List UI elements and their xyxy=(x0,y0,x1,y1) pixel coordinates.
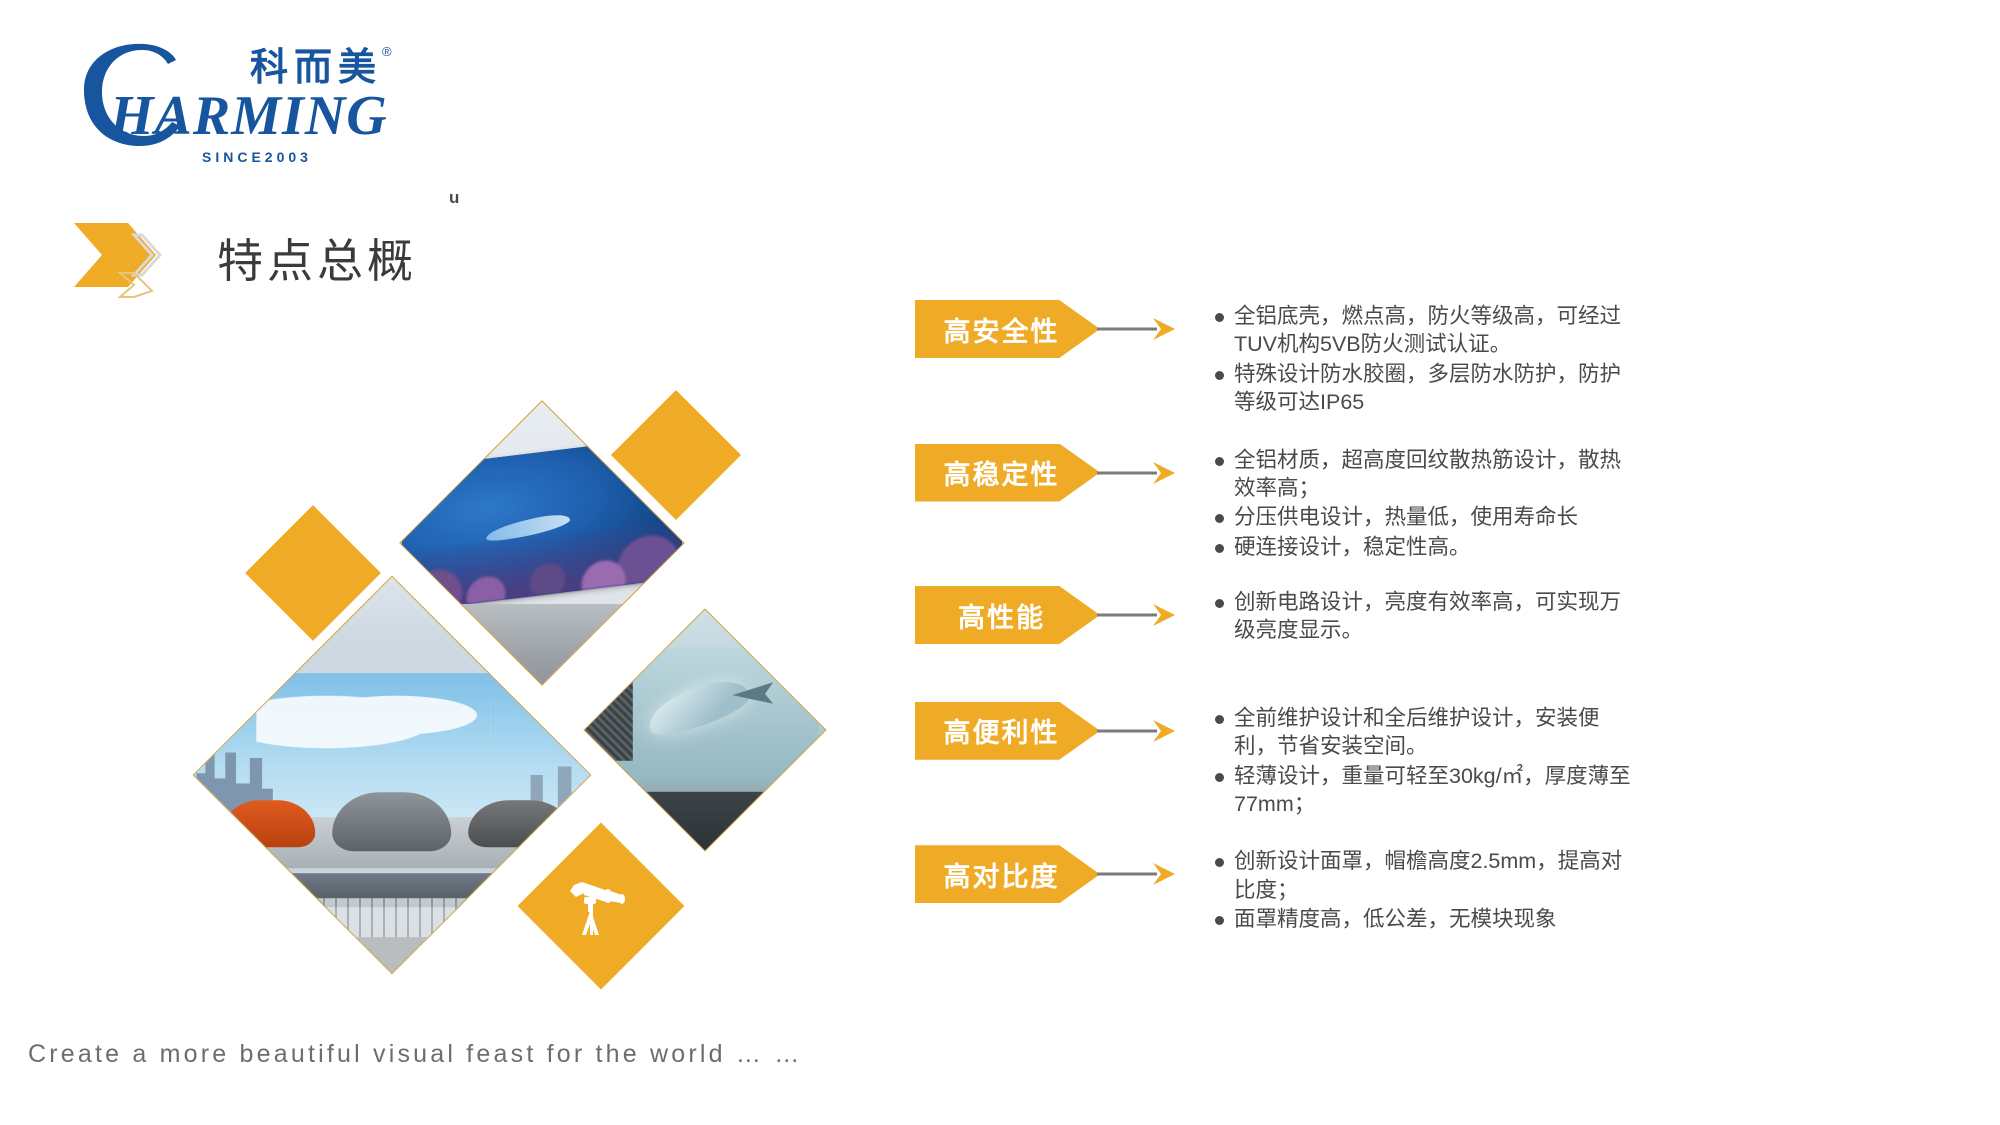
stray-glyph: u xyxy=(449,188,459,208)
bullet-dot-icon xyxy=(1215,313,1224,322)
feature-row: 高安全性 全铝底壳，燃点高，防火等级高，可经过TUV机构5VB防火测试认证。 特… xyxy=(915,300,1935,418)
feature-tag-stability[interactable]: 高稳定性 xyxy=(915,444,1100,502)
feature-row: 高稳定性 全铝材质，超高度回纹散热筋设计，散热效率高； 分压供电设计，热量低，使… xyxy=(915,444,1935,563)
page-title: 特点总概 xyxy=(217,225,417,291)
diamond-telescope-icon xyxy=(518,823,685,990)
feature-tag-convenience[interactable]: 高便利性 xyxy=(915,702,1100,760)
feature-tag-wrap: 高稳定性 xyxy=(915,444,1215,502)
svg-text:科而美: 科而美 xyxy=(250,45,382,89)
list-item: 创新电路设计，亮度有效率高，可实现万级亮度显示。 xyxy=(1215,588,1935,645)
list-item: 轻薄设计，重量可轻至30kg/㎡，厚度薄至77mm； xyxy=(1215,762,1935,819)
image-collage xyxy=(190,395,830,990)
list-item: 硬连接设计，稳定性高。 xyxy=(1215,533,1935,561)
svg-text:HARMING: HARMING xyxy=(109,85,388,147)
arrow-icon xyxy=(1097,461,1185,485)
feature-bullets: 创新电路设计，亮度有效率高，可实现万级亮度显示。 xyxy=(1215,586,1935,646)
list-item: 特殊设计防水胶圈，多层防水防护，防护等级可达IP65 xyxy=(1215,360,1935,417)
svg-text:®: ® xyxy=(382,44,392,59)
list-item: 分压供电设计，热量低，使用寿命长 xyxy=(1215,503,1935,531)
feature-tag-wrap: 高对比度 xyxy=(915,845,1215,903)
bullet-dot-icon xyxy=(1215,858,1224,867)
feature-list: 高安全性 全铝底壳，燃点高，防火等级高，可经过TUV机构5VB防火测试认证。 特… xyxy=(915,300,1935,934)
feature-tag-performance[interactable]: 高性能 xyxy=(915,586,1100,644)
list-item: 全前维护设计和全后维护设计，安装便利，节省安装空间。 xyxy=(1215,704,1935,761)
feature-bullets: 全前维护设计和全后维护设计，安装便利，节省安装空间。 轻薄设计，重量可轻至30k… xyxy=(1215,702,1935,820)
feature-row: 高便利性 全前维护设计和全后维护设计，安装便利，节省安装空间。 轻薄设计，重量可… xyxy=(915,702,1935,820)
feature-tag-contrast[interactable]: 高对比度 xyxy=(915,845,1100,903)
feature-row: 高对比度 创新设计面罩，帽檐高度2.5mm，提高对比度； 面罩精度高，低公差，无… xyxy=(915,845,1935,934)
slide-root: HARMING 科而美 ® SINCE2003 特点总概 u xyxy=(0,0,2000,1125)
chevron-accent-group xyxy=(72,217,187,299)
bullet-dot-icon xyxy=(1215,773,1224,782)
arrow-icon xyxy=(1097,317,1185,341)
company-logo: HARMING 科而美 ® SINCE2003 xyxy=(72,38,412,166)
bullet-dot-icon xyxy=(1215,457,1224,466)
bullet-dot-icon xyxy=(1215,544,1224,553)
feature-row: 高性能 创新电路设计，亮度有效率高，可实现万级亮度显示。 xyxy=(915,586,1935,646)
feature-tag-safety[interactable]: 高安全性 xyxy=(915,300,1100,358)
arrow-icon xyxy=(1097,862,1185,886)
list-item: 面罩精度高，低公差，无模块现象 xyxy=(1215,905,1935,933)
telescope-icon xyxy=(564,869,638,943)
feature-bullets: 创新设计面罩，帽檐高度2.5mm，提高对比度； 面罩精度高，低公差，无模块现象 xyxy=(1215,845,1935,934)
page-title-block: 特点总概 xyxy=(72,213,417,303)
bullet-dot-icon xyxy=(1215,916,1224,925)
list-item: 创新设计面罩，帽檐高度2.5mm，提高对比度； xyxy=(1215,847,1935,904)
arrow-icon xyxy=(1097,719,1185,743)
feature-tag-wrap: 高便利性 xyxy=(915,702,1215,760)
footer-tagline: Create a more beautiful visual feast for… xyxy=(28,1040,802,1069)
feature-bullets: 全铝材质，超高度回纹散热筋设计，散热效率高； 分压供电设计，热量低，使用寿命长 … xyxy=(1215,444,1935,563)
svg-text:SINCE2003: SINCE2003 xyxy=(202,149,312,165)
bullet-dot-icon xyxy=(1215,371,1224,380)
arrow-icon xyxy=(1097,603,1185,627)
feature-bullets: 全铝底壳，燃点高，防火等级高，可经过TUV机构5VB防火测试认证。 特殊设计防水… xyxy=(1215,300,1935,418)
list-item: 全铝材质，超高度回纹散热筋设计，散热效率高； xyxy=(1215,446,1935,503)
bullet-dot-icon xyxy=(1215,715,1224,724)
feature-tag-wrap: 高安全性 xyxy=(915,300,1215,358)
feature-tag-wrap: 高性能 xyxy=(915,586,1215,644)
bullet-dot-icon xyxy=(1215,514,1224,523)
list-item: 全铝底壳，燃点高，防火等级高，可经过TUV机构5VB防火测试认证。 xyxy=(1215,302,1935,359)
bullet-dot-icon xyxy=(1215,599,1224,608)
diamond-photo-whale-led xyxy=(585,610,825,850)
